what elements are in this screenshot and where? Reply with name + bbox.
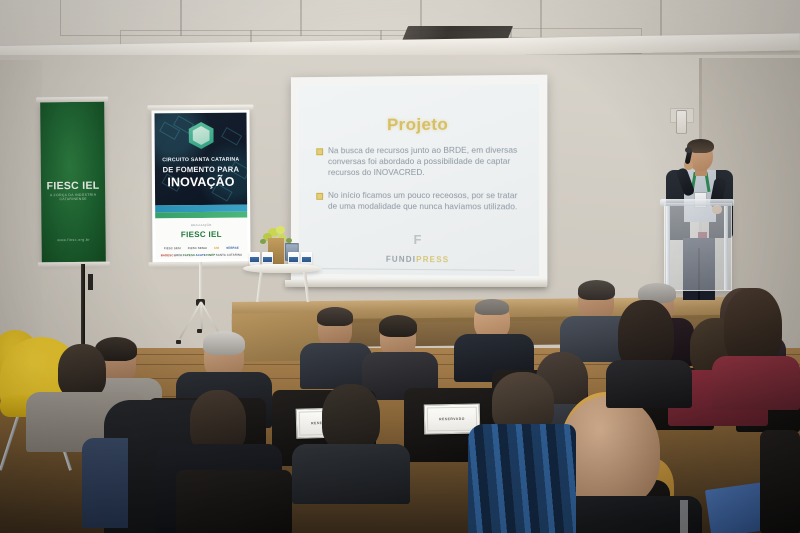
auditorium-chair[interactable]: [176, 470, 292, 533]
banner-top-rail: [147, 105, 253, 111]
bullet-square-icon: [316, 148, 323, 155]
conference-photo-scene: Projeto Na busca de recursos junto ao BR…: [0, 0, 800, 533]
sponsor-logo: SANTA CATARINA: [216, 253, 243, 257]
sponsor-logo: FIESC SESI: [164, 246, 181, 250]
sponsor-logo: CNI: [214, 246, 219, 250]
auditorium-chair[interactable]: [760, 430, 800, 533]
sponsor-logo: ACATE: [196, 253, 206, 257]
audience-member-jeans: [82, 438, 128, 528]
fundipress-wordmark: FUNDIPRESS: [299, 248, 539, 268]
microphone-head-icon: [685, 147, 692, 153]
banner-green-url: www.fiesc.org.br: [42, 238, 106, 243]
hexagon-logo-inner: [193, 126, 210, 145]
banner-navy-footer: REALIZAÇÃO FIESC IEL FIESC SESI FIESC SE…: [155, 218, 247, 260]
slide-body: Na busca de recursos junto ao BRDE, em d…: [316, 145, 528, 226]
sponsor-logo: FIESC SENAI: [188, 246, 207, 250]
sponsor-logo: FAPESC: [183, 253, 195, 257]
sponsor-row: FIESC SESI FIESC SENAI CNI SEBRAE: [160, 246, 242, 251]
screen-bottom-bar: [285, 280, 547, 287]
cup-label: [250, 257, 259, 262]
banner-top-rail: [36, 97, 108, 103]
cup-label: [263, 257, 272, 262]
slide-bullet-item: No início ficamos um pouco receosos, por…: [316, 190, 528, 212]
banner-bottom-rail: [38, 262, 110, 268]
banner-green-logo: FIESC IEL: [41, 180, 105, 193]
sponsor-logo: FINEP: [206, 253, 215, 257]
banner-navy-brand: FIESC IEL: [155, 230, 247, 240]
banner-green-clamp: [88, 274, 93, 290]
brand-part-first: FUNDI: [386, 255, 416, 264]
banner-realization-label: REALIZAÇÃO: [155, 223, 247, 228]
bullet-square-icon: [316, 193, 323, 200]
sponsor-logo: BRDE: [174, 253, 183, 257]
slide-bullet-text: No início ficamos um pouco receosos, por…: [328, 190, 528, 212]
banner-navy-line2: DE FOMENTO PARA: [155, 165, 247, 175]
banner-navy-line1: CIRCUITO SANTA CATARINA: [155, 157, 247, 164]
projection-screen: Projeto Na busca de recursos junto ao BR…: [291, 75, 547, 286]
brand-part-second: PRESS: [416, 255, 449, 264]
seat-card-text: RESERVADO: [439, 417, 465, 421]
podium-rail: [666, 206, 670, 290]
wall-speaker-icon: [676, 110, 687, 134]
side-table: [243, 264, 321, 273]
sponsor-row: BADESC BRDE FAPESC ACATE FINEP SANTA CAT…: [160, 253, 242, 258]
banner-navy-header: CIRCUITO SANTA CATARINA DE FOMENTO PARA …: [154, 113, 247, 206]
banner-fiesc-iel: FIESC IEL A FORÇA DA INDÚSTRIA CATARINEN…: [40, 102, 106, 263]
acrylic-podium: [664, 203, 732, 291]
left-wall: [0, 60, 42, 360]
podium-rail: [724, 206, 728, 290]
podium-top-surface: [660, 199, 734, 206]
slide-bullet-item: Na busca de recursos junto ao BRDE, em d…: [316, 145, 528, 178]
banner-green-tagline: A FORÇA DA INDÚSTRIA CATARINENSE: [41, 193, 105, 202]
sponsor-logos: FIESC SESI FIESC SENAI CNI SEBRAE BADESC…: [160, 243, 242, 258]
cup-label: [302, 257, 311, 262]
sponsor-logo: BADESC: [161, 253, 174, 257]
jacket-stripe: [680, 500, 688, 533]
cup-label: [289, 257, 298, 262]
presentation-slide: Projeto Na busca de recursos junto ao BR…: [299, 84, 539, 276]
slide-bullet-text: Na busca de recursos junto ao BRDE, em d…: [328, 145, 528, 178]
slide-title: Projeto: [299, 114, 539, 135]
banner-navy-line3: INOVAÇÃO: [155, 175, 247, 190]
slide-footer-rule: [322, 268, 515, 271]
plaid-shirt: [468, 424, 576, 533]
banner-circuito-inovacao: CIRCUITO SANTA CATARINA DE FOMENTO PARA …: [151, 110, 250, 263]
fundipress-mark-icon: F: [414, 234, 422, 245]
slide-footer: F FUNDIPRESS: [299, 230, 539, 268]
sponsor-logo: SEBRAE: [226, 246, 239, 250]
